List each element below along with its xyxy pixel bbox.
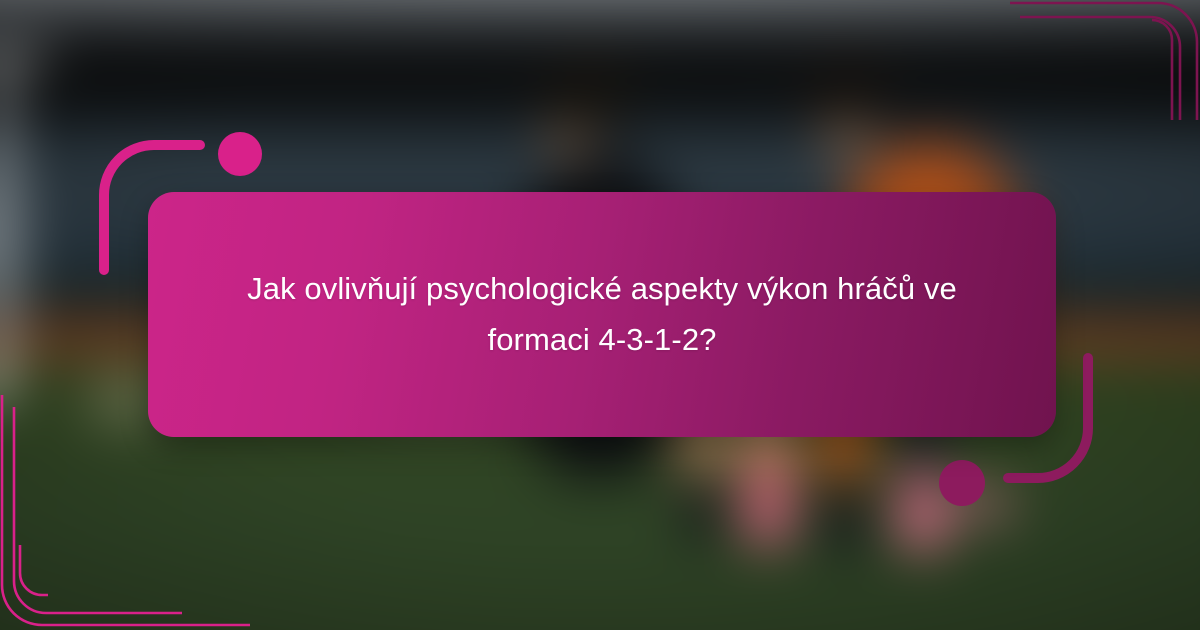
page-title: Jak ovlivňují psychologické aspekty výko… [242, 264, 962, 364]
accent-dot-bottom-right-icon [939, 460, 985, 506]
question-card: Jak ovlivňují psychologické aspekty výko… [148, 192, 1056, 437]
share-card-canvas: Jak ovlivňují psychologické aspekty výko… [0, 0, 1200, 630]
accent-dot-top-left-icon [218, 132, 262, 176]
corner-lines-top-right-icon [980, 0, 1200, 120]
